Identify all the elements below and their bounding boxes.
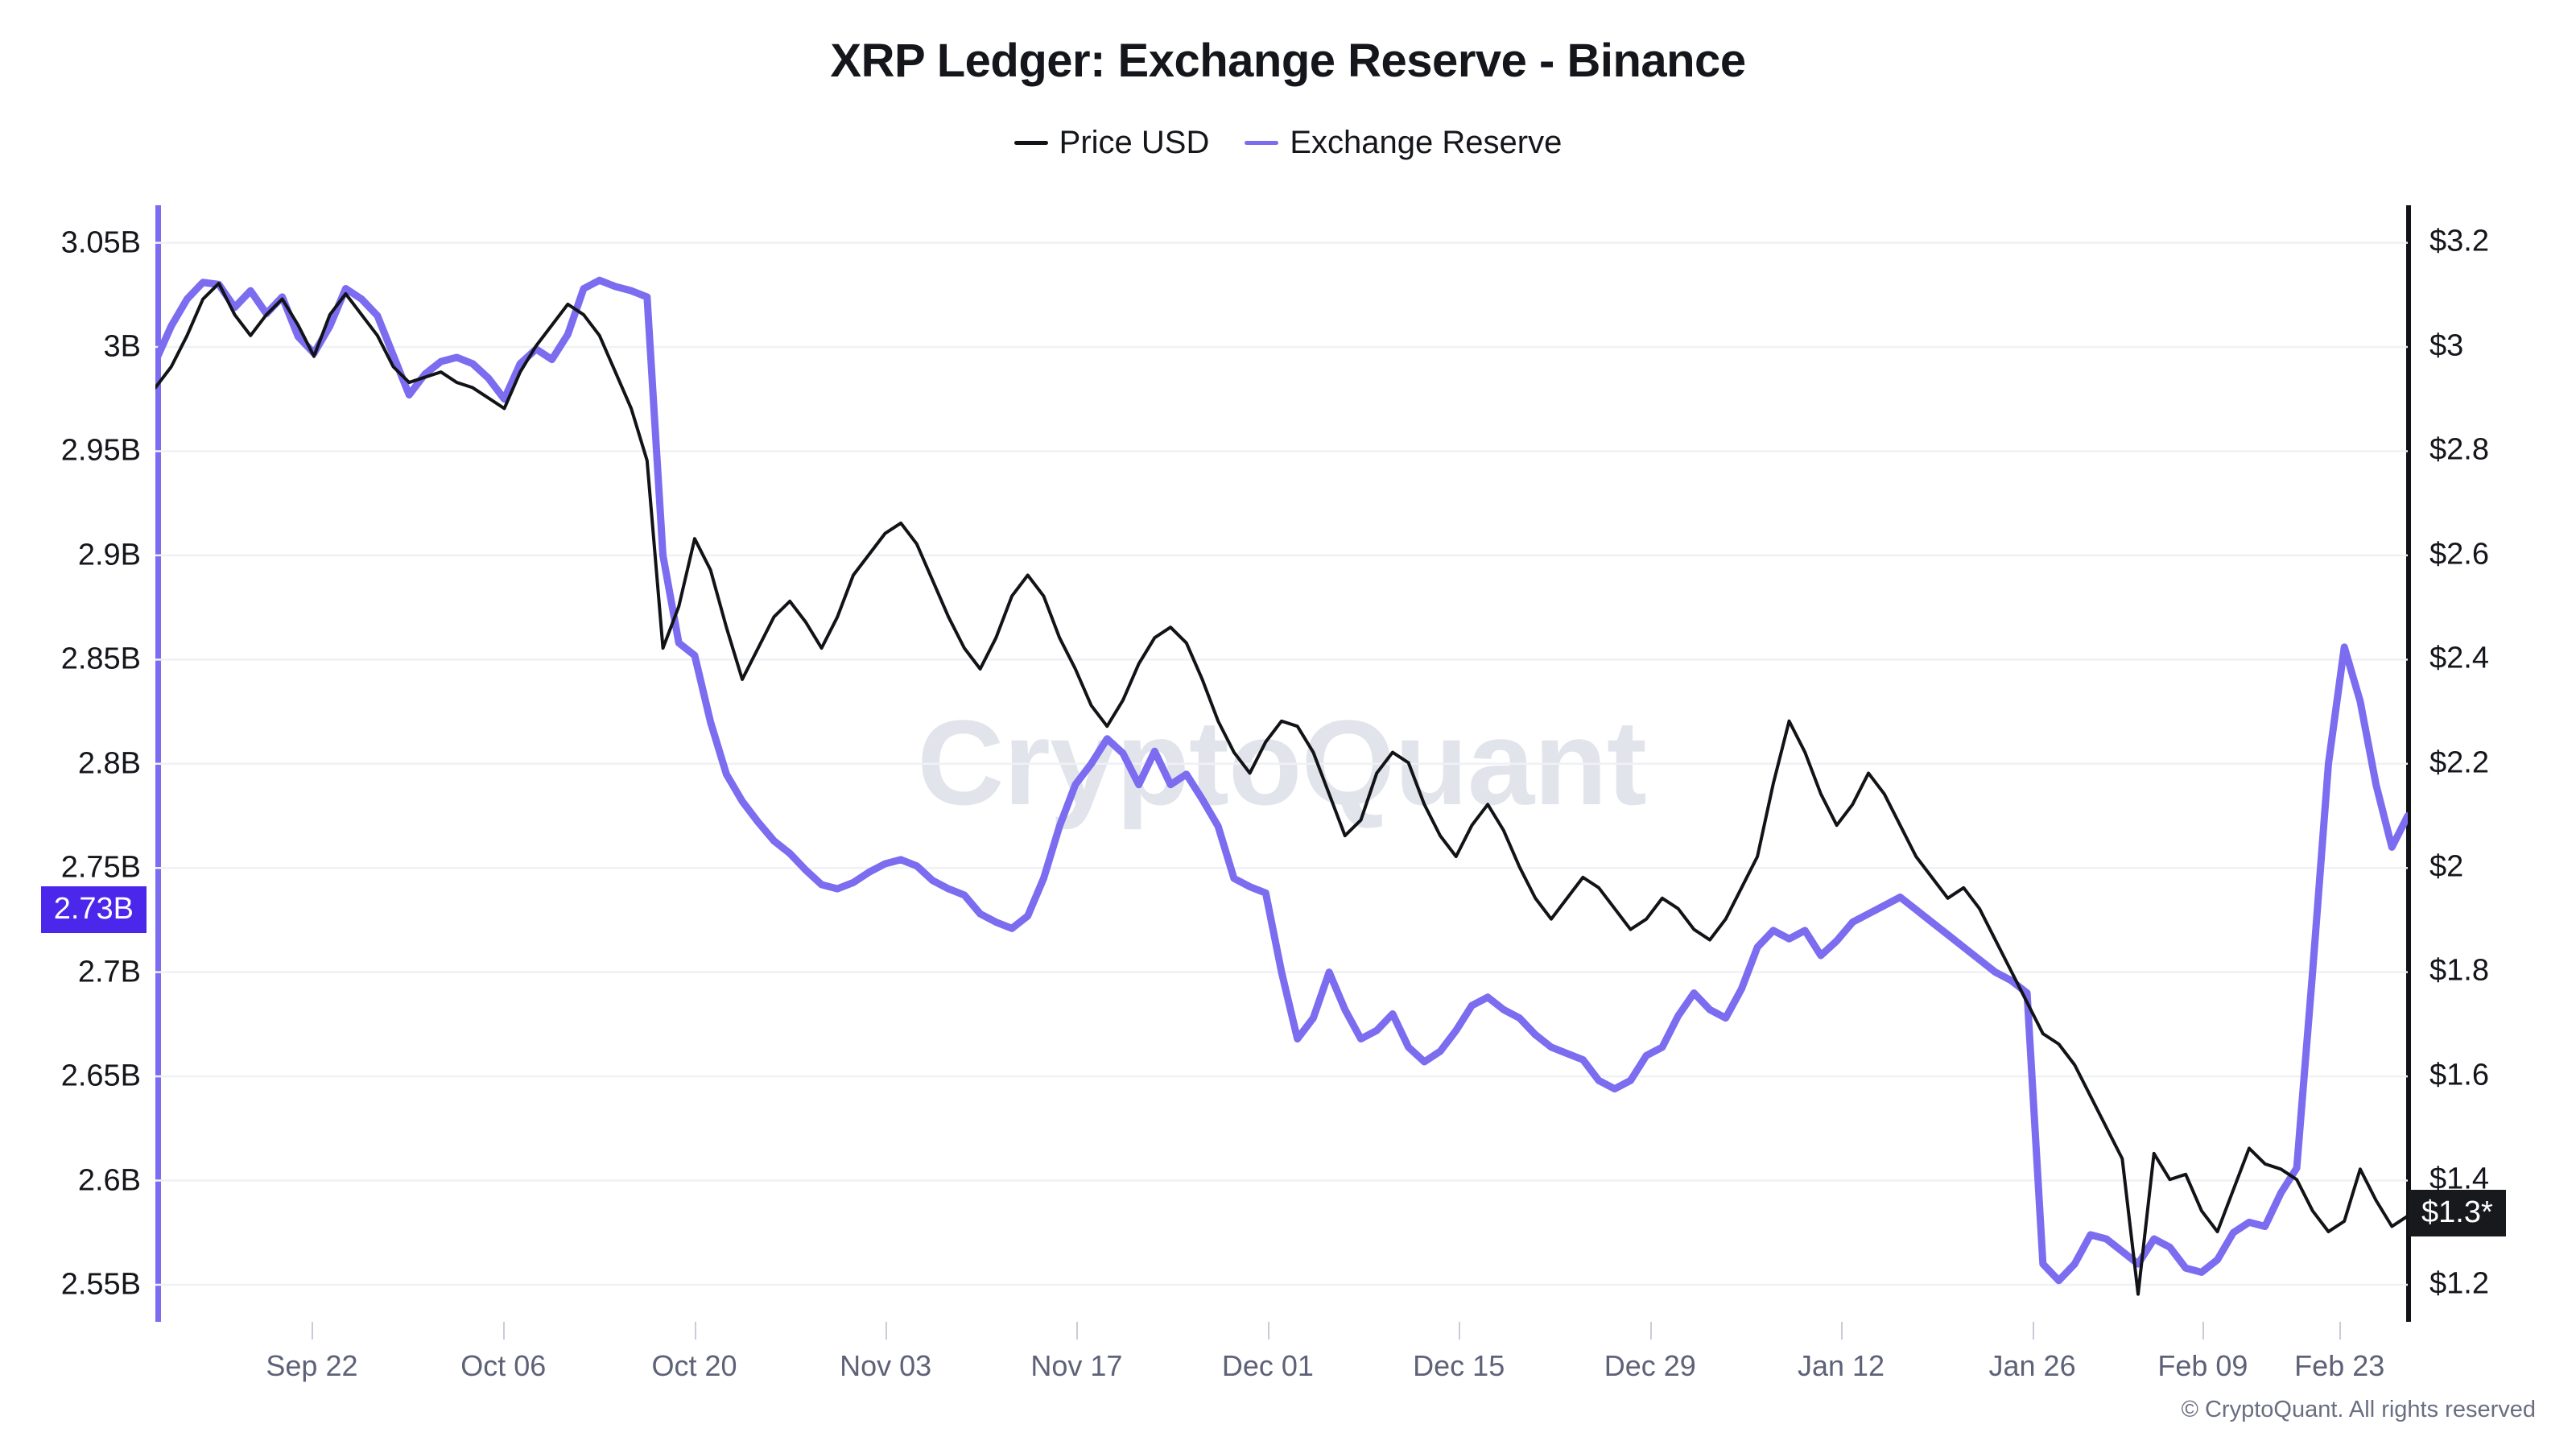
x-axis-tick-label: Oct 06 (460, 1349, 546, 1383)
legend-item-reserve[interactable]: Exchange Reserve (1245, 125, 1562, 161)
x-axis-tick-mark (2339, 1322, 2341, 1340)
series-line-price-usd (155, 283, 2408, 1294)
x-axis-tick-label: Nov 17 (1030, 1349, 1122, 1383)
y-axis-left-tick: 2.85B (61, 642, 141, 677)
x-axis-tick-mark (312, 1322, 313, 1340)
legend-swatch-reserve (1245, 141, 1278, 145)
x-axis-tick-label: Dec 15 (1413, 1349, 1505, 1383)
x-axis-tick-mark (1076, 1322, 1078, 1340)
y-axis-right-tick: $1.2 (2429, 1266, 2489, 1301)
x-axis-tick-mark (1459, 1322, 1460, 1340)
x-axis-tick-mark (2202, 1322, 2204, 1340)
y-axis-left-tick: 2.8B (78, 746, 141, 781)
legend-label-reserve: Exchange Reserve (1290, 125, 1562, 161)
chart-legend: Price USDExchange Reserve (0, 125, 2576, 161)
x-axis-tick-label: Jan 26 (1989, 1349, 2076, 1383)
y-axis-right-tick: $2.4 (2429, 642, 2489, 676)
x-axis-tick-mark (1841, 1322, 1843, 1340)
x-axis-tick-label: Feb 23 (2294, 1349, 2384, 1383)
y-axis-right-tick: $1.8 (2429, 954, 2489, 989)
series-line-exchange-reserve (155, 280, 2408, 1281)
chart-container: XRP Ledger: Exchange Reserve - Binance P… (0, 0, 2576, 1449)
y-axis-left-tick: 2.55B (61, 1267, 141, 1302)
y-axis-left-tick: 2.6B (78, 1163, 141, 1198)
legend-swatch-price (1014, 141, 1048, 145)
y-axis-right-tick: $3 (2429, 328, 2463, 363)
page-title: XRP Ledger: Exchange Reserve - Binance (0, 35, 2576, 87)
x-axis-tick-mark (503, 1322, 505, 1340)
gridlines (155, 243, 2408, 1285)
y-axis-right-tick: $2.2 (2429, 745, 2489, 780)
x-axis-tick-label: Feb 09 (2157, 1349, 2248, 1383)
y-axis-right-tick: $2.6 (2429, 537, 2489, 572)
x-axis-tick-label: Nov 03 (840, 1349, 931, 1383)
x-axis-tick-label: Sep 22 (266, 1349, 357, 1383)
x-axis-tick-label: Dec 29 (1604, 1349, 1696, 1383)
y-axis-right-tick: $2.8 (2429, 433, 2489, 468)
y-axis-left-tick: 2.75B (61, 851, 141, 885)
y-axis-left-tick: 2.7B (78, 955, 141, 989)
y-axis-left-tick: 3.05B (61, 225, 141, 260)
series-lines (155, 280, 2408, 1294)
copyright-credit: © CryptoQuant. All rights reserved (2182, 1397, 2536, 1423)
y-axis-left-tick: 2.65B (61, 1059, 141, 1094)
y-axis-left-tick: 2.9B (78, 538, 141, 572)
plot-area: CryptoQuant (155, 205, 2408, 1320)
legend-label-price: Price USD (1059, 125, 1210, 161)
y-axis-right-tick: $3.2 (2429, 225, 2489, 259)
y-axis-left-tick: 2.95B (61, 434, 141, 469)
price-value-badge: $1.3* (2409, 1190, 2506, 1236)
reserve-value-badge: 2.73B (41, 886, 147, 933)
chart-svg (155, 205, 2408, 1320)
y-axis-right-tick: $1.6 (2429, 1058, 2489, 1092)
y-axis-left-tick: 3B (104, 330, 141, 365)
x-axis-tick-mark (2033, 1322, 2034, 1340)
x-axis-tick-mark (1268, 1322, 1269, 1340)
x-axis-tick-mark (885, 1322, 887, 1340)
x-axis-tick-label: Dec 01 (1222, 1349, 1314, 1383)
x-axis-tick-label: Oct 20 (652, 1349, 737, 1383)
x-axis-tick-mark (1650, 1322, 1652, 1340)
legend-item-price[interactable]: Price USD (1014, 125, 1210, 161)
x-axis-tick-label: Jan 12 (1798, 1349, 1885, 1383)
y-axis-right-tick: $2 (2429, 849, 2463, 884)
x-axis-tick-mark (695, 1322, 696, 1340)
